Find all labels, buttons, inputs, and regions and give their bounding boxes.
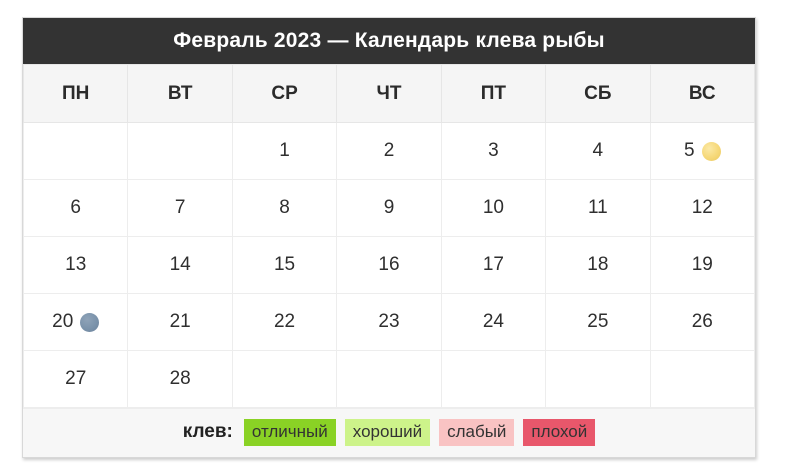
calendar-grid: ПНВТСРЧТПТСБВС 1234567891011121314151617… [23,64,755,408]
calendar-day-cell[interactable]: 27 [24,351,128,408]
calendar-day-cell[interactable]: 19 [650,237,754,294]
calendar-day-cell[interactable]: 25 [546,294,650,351]
day-cell-content [442,351,545,407]
day-cell-content: 28 [128,351,231,407]
calendar-day-cell[interactable]: 5 [650,123,754,180]
legend-chip-excellent: отличный [244,419,336,446]
weekday-header-monday: ПН [24,65,128,123]
day-cell-content: 22 [233,294,336,350]
day-cell-content: 12 [651,180,754,236]
day-number: 20 [52,311,73,333]
calendar-day-cell[interactable]: 12 [650,180,754,237]
day-cell-content: 15 [233,237,336,293]
day-cell-content: 20 [24,294,127,350]
calendar-day-cell[interactable]: 2 [337,123,441,180]
day-number: 19 [692,254,713,276]
calendar-week-row: 13141516171819 [24,237,755,294]
day-number: 22 [274,311,295,333]
day-number: 26 [692,311,713,333]
calendar-day-cell[interactable]: 3 [441,123,545,180]
day-number: 11 [588,197,608,219]
calendar-day-cell[interactable]: 17 [441,237,545,294]
day-cell-content: 11 [546,180,649,236]
calendar-day-cell[interactable]: 9 [337,180,441,237]
weekday-header-row: ПНВТСРЧТПТСБВС [24,65,755,123]
day-cell-content [24,123,127,179]
calendar-day-cell[interactable]: 14 [128,237,232,294]
day-number: 9 [384,197,395,219]
day-cell-content: 21 [128,294,231,350]
new-moon-icon [80,313,99,332]
weekday-header-tuesday: ВТ [128,65,232,123]
day-cell-content: 7 [128,180,231,236]
calendar-day-cell[interactable]: 15 [232,237,336,294]
day-cell-content: 16 [337,237,440,293]
day-number: 5 [684,140,695,162]
legend-chip-good: хороший [345,419,430,446]
day-cell-content [651,351,754,407]
day-cell-content: 27 [24,351,127,407]
calendar-day-cell-empty [232,351,336,408]
weekday-header-sunday: ВС [650,65,754,123]
calendar-day-cell-empty [337,351,441,408]
legend-chip-list: отличныйхорошийслабыйплохой [244,419,595,446]
calendar-day-cell[interactable]: 6 [24,180,128,237]
day-number: 3 [488,140,499,162]
calendar-day-cell[interactable]: 20 [24,294,128,351]
day-number: 27 [65,368,86,390]
calendar-day-cell[interactable]: 16 [337,237,441,294]
day-cell-content: 2 [337,123,440,179]
legend: клев: отличныйхорошийслабыйплохой [23,408,755,457]
calendar-day-cell[interactable]: 4 [546,123,650,180]
day-number: 1 [279,140,290,162]
day-cell-content: 25 [546,294,649,350]
day-number: 16 [378,254,399,276]
calendar-week-row: 2728 [24,351,755,408]
calendar-day-cell-empty [441,351,545,408]
day-cell-content: 8 [233,180,336,236]
day-number: 4 [593,140,604,162]
calendar-day-cell[interactable]: 7 [128,180,232,237]
calendar-day-cell[interactable]: 1 [232,123,336,180]
day-cell-content: 9 [337,180,440,236]
calendar-day-cell[interactable]: 21 [128,294,232,351]
page-root: Февраль 2023 — Календарь клева рыбы ПНВТ… [0,0,800,464]
day-number: 12 [692,197,713,219]
day-number: 24 [483,311,504,333]
day-cell-content: 23 [337,294,440,350]
weekday-header-friday: ПТ [441,65,545,123]
calendar-week-row: 20212223242526 [24,294,755,351]
calendar-day-cell[interactable]: 26 [650,294,754,351]
calendar-day-cell[interactable]: 23 [337,294,441,351]
calendar-day-cell[interactable]: 22 [232,294,336,351]
day-number: 14 [170,254,191,276]
day-number: 23 [378,311,399,333]
day-number: 2 [384,140,395,162]
calendar-day-cell[interactable]: 11 [546,180,650,237]
weekday-header-wednesday: СР [232,65,336,123]
calendar-title: Февраль 2023 — Календарь клева рыбы [23,18,755,64]
calendar-day-cell[interactable]: 8 [232,180,336,237]
day-cell-content [337,351,440,407]
day-cell-content: 3 [442,123,545,179]
day-number: 8 [279,197,290,219]
day-number: 15 [274,254,295,276]
calendar-week-row: 12345 [24,123,755,180]
calendar-day-cell-empty [546,351,650,408]
day-cell-content: 6 [24,180,127,236]
day-cell-content: 24 [442,294,545,350]
day-number: 25 [587,311,608,333]
calendar-day-cell-empty [128,123,232,180]
day-cell-content [546,351,649,407]
calendar-day-cell-empty [24,123,128,180]
day-number: 7 [175,197,186,219]
day-number: 18 [587,254,608,276]
legend-chip-bad: плохой [523,419,595,446]
day-number: 6 [70,197,81,219]
day-number: 28 [170,368,191,390]
day-cell-content: 17 [442,237,545,293]
day-number: 17 [483,254,504,276]
weekday-header-thursday: ЧТ [337,65,441,123]
day-cell-content: 19 [651,237,754,293]
day-cell-content: 1 [233,123,336,179]
day-cell-content: 4 [546,123,649,179]
weekday-header-saturday: СБ [546,65,650,123]
day-cell-content: 5 [651,123,754,179]
day-cell-content: 18 [546,237,649,293]
day-cell-content: 26 [651,294,754,350]
day-number: 10 [483,197,504,219]
day-cell-content [128,123,231,179]
calendar-day-cell[interactable]: 24 [441,294,545,351]
day-cell-content: 13 [24,237,127,293]
fishing-calendar: Февраль 2023 — Календарь клева рыбы ПНВТ… [22,17,756,458]
calendar-body: 1234567891011121314151617181920212223242… [24,123,755,408]
day-number: 13 [65,254,86,276]
day-cell-content [233,351,336,407]
calendar-week-row: 6789101112 [24,180,755,237]
calendar-day-cell[interactable]: 10 [441,180,545,237]
day-cell-content: 14 [128,237,231,293]
full-moon-icon [702,142,721,161]
day-cell-content: 10 [442,180,545,236]
calendar-day-cell[interactable]: 13 [24,237,128,294]
legend-label: клев: [183,421,233,443]
calendar-day-cell-empty [650,351,754,408]
calendar-day-cell[interactable]: 28 [128,351,232,408]
legend-chip-weak: слабый [439,419,514,446]
calendar-day-cell[interactable]: 18 [546,237,650,294]
day-number: 21 [170,311,191,333]
